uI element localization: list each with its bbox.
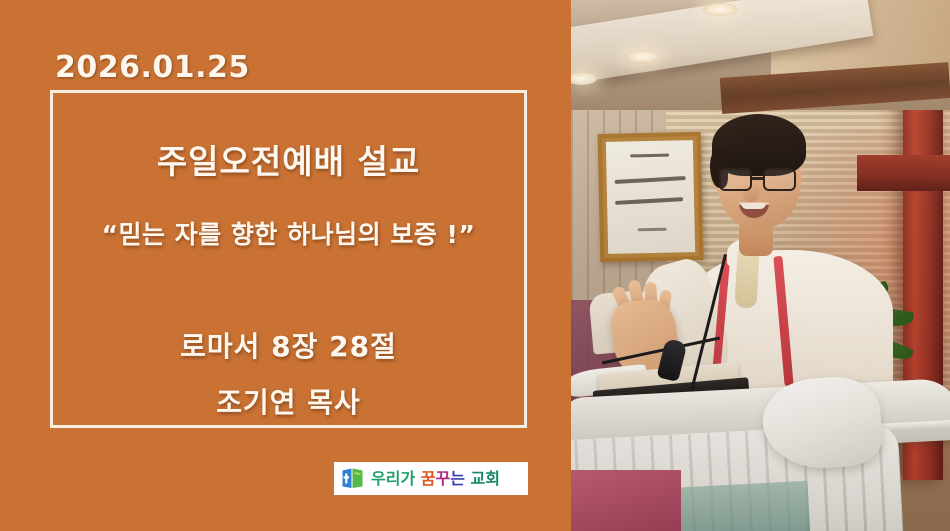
logo-word-2: 꿈	[421, 469, 436, 488]
open-book-cross-icon	[341, 467, 364, 490]
preacher-name: 조기연 목사	[53, 381, 524, 421]
downlight-icon	[703, 3, 737, 16]
logo-word-3: 꾸	[435, 469, 450, 488]
sermon-service-title: 주일오전예배 설교	[53, 135, 524, 183]
pink-carpet	[571, 470, 681, 531]
eyeglasses-icon	[719, 168, 803, 192]
sermon-message-subtitle: “믿는 자를 향한 하나님의 보증 !”	[53, 215, 524, 251]
logo-word-4: 는	[450, 469, 465, 488]
necktie	[734, 249, 759, 308]
left-text-panel: 2026.01.25 주일오전예배 설교 “믿는 자를 향한 하나님의 보증 !…	[0, 0, 571, 531]
logo-word-1: 우리가	[371, 469, 415, 488]
framed-wall-banner	[598, 132, 704, 262]
church-logo-text: 우리가 꿈꾸는 교회	[371, 471, 500, 487]
pastor-teeth	[741, 203, 766, 209]
sermon-info-frame: 주일오전예배 설교 “믿는 자를 향한 하나님의 보증 !” 로마서 8장 28…	[50, 90, 527, 428]
pastor-preaching-photo	[571, 0, 950, 531]
downlight-icon	[626, 50, 660, 63]
sermon-title-slide: 2026.01.25 주일오전예배 설교 “믿는 자를 향한 하나님의 보증 !…	[0, 0, 950, 531]
wooden-cross-horizontal	[857, 155, 950, 191]
sermon-date: 2026.01.25	[55, 50, 250, 85]
scripture-reference: 로마서 8장 28절	[53, 325, 524, 365]
church-logo: 우리가 꿈꾸는 교회	[334, 462, 528, 495]
logo-word-5: 교회	[471, 469, 500, 488]
